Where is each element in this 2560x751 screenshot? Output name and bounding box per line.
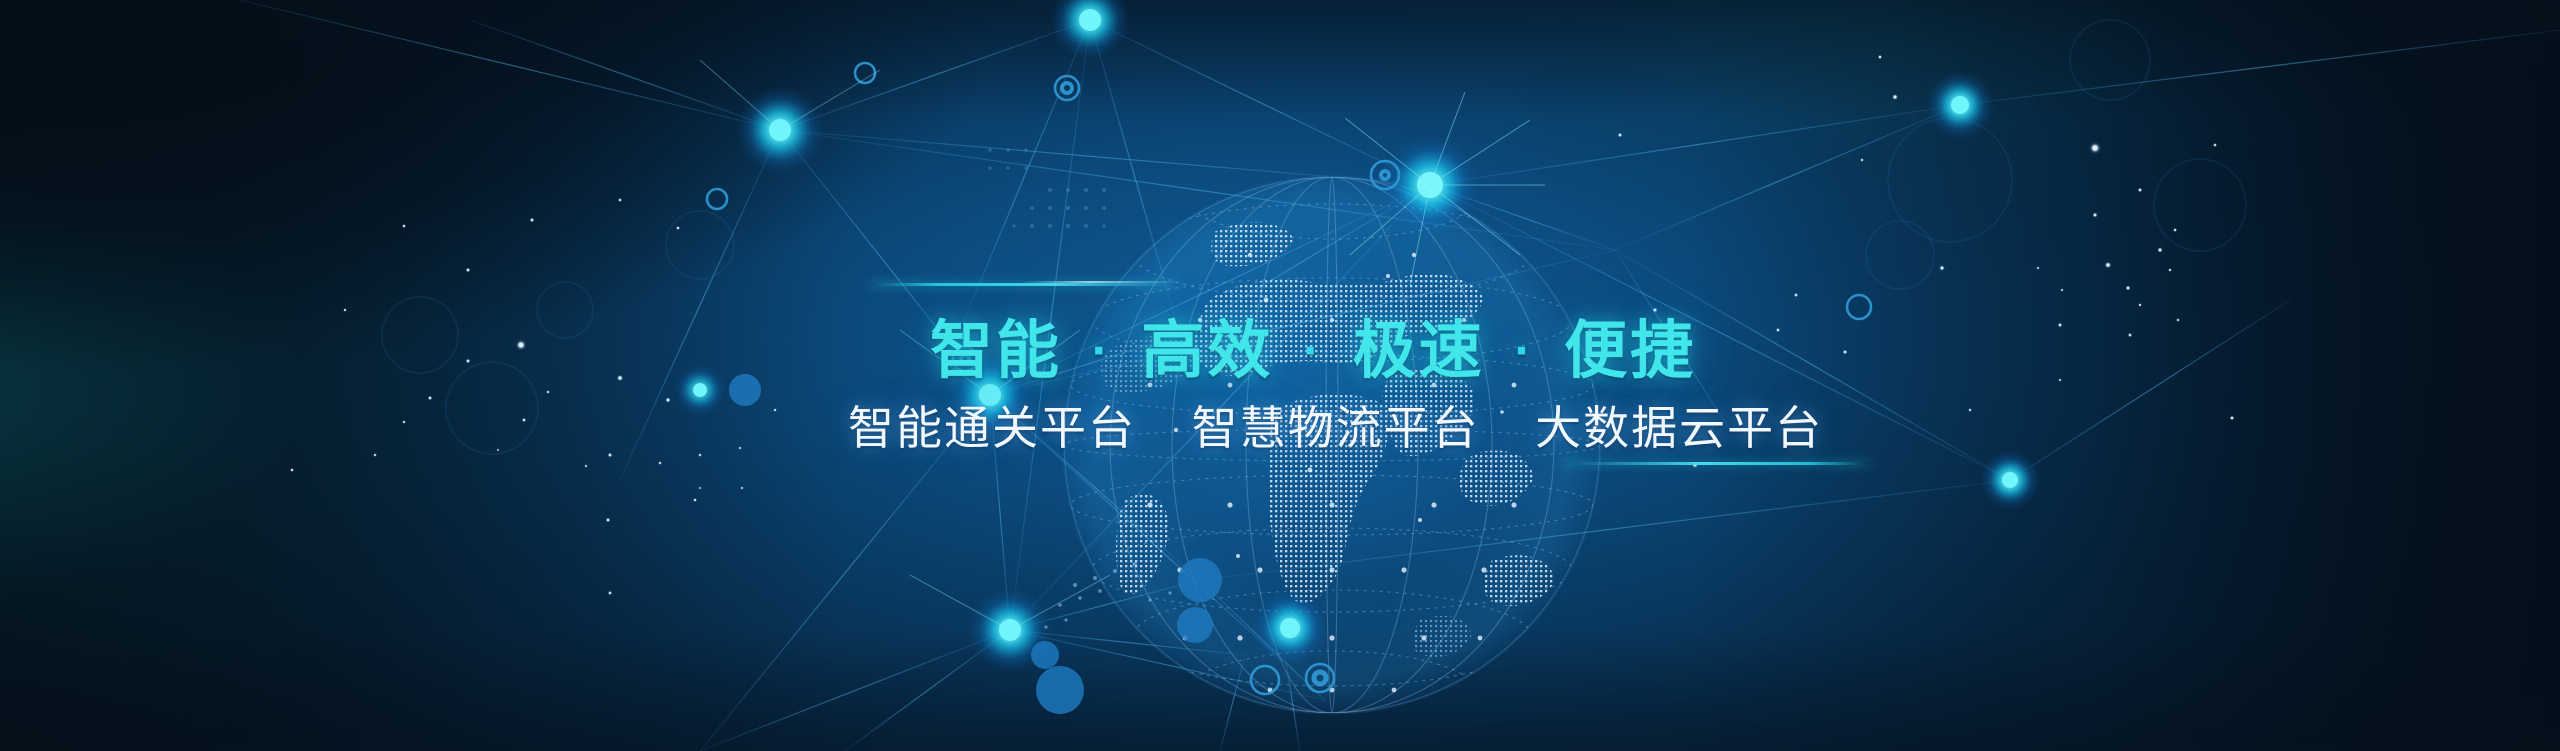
background-grain-texture — [0, 0, 2560, 751]
hero-banner: 智能 · 高效 · 极速 · 便捷 智能通关平台 智慧物流平台 大数据云平台 — [0, 0, 2560, 751]
